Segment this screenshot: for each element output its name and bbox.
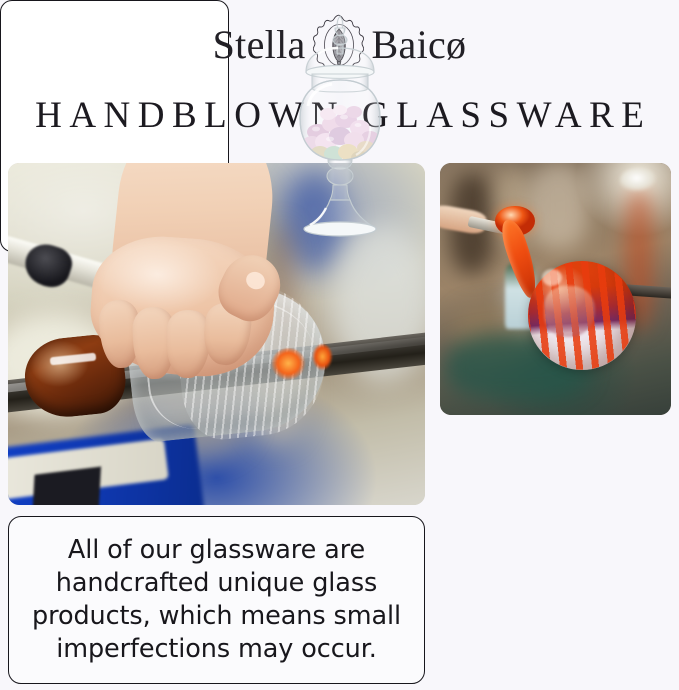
hot-glass-glow-small [312, 344, 333, 371]
photo-molten-red-sphere [440, 163, 671, 415]
disclaimer-box: All of our glassware are handcrafted uni… [8, 516, 425, 684]
hotshop-blur-3 [528, 163, 588, 249]
apothecary-jar-illustration [270, 10, 410, 242]
infographic-page: Stella [0, 0, 679, 690]
disclaimer-text: All of our glassware are handcrafted uni… [23, 534, 410, 666]
sphere-reflection [544, 286, 595, 336]
